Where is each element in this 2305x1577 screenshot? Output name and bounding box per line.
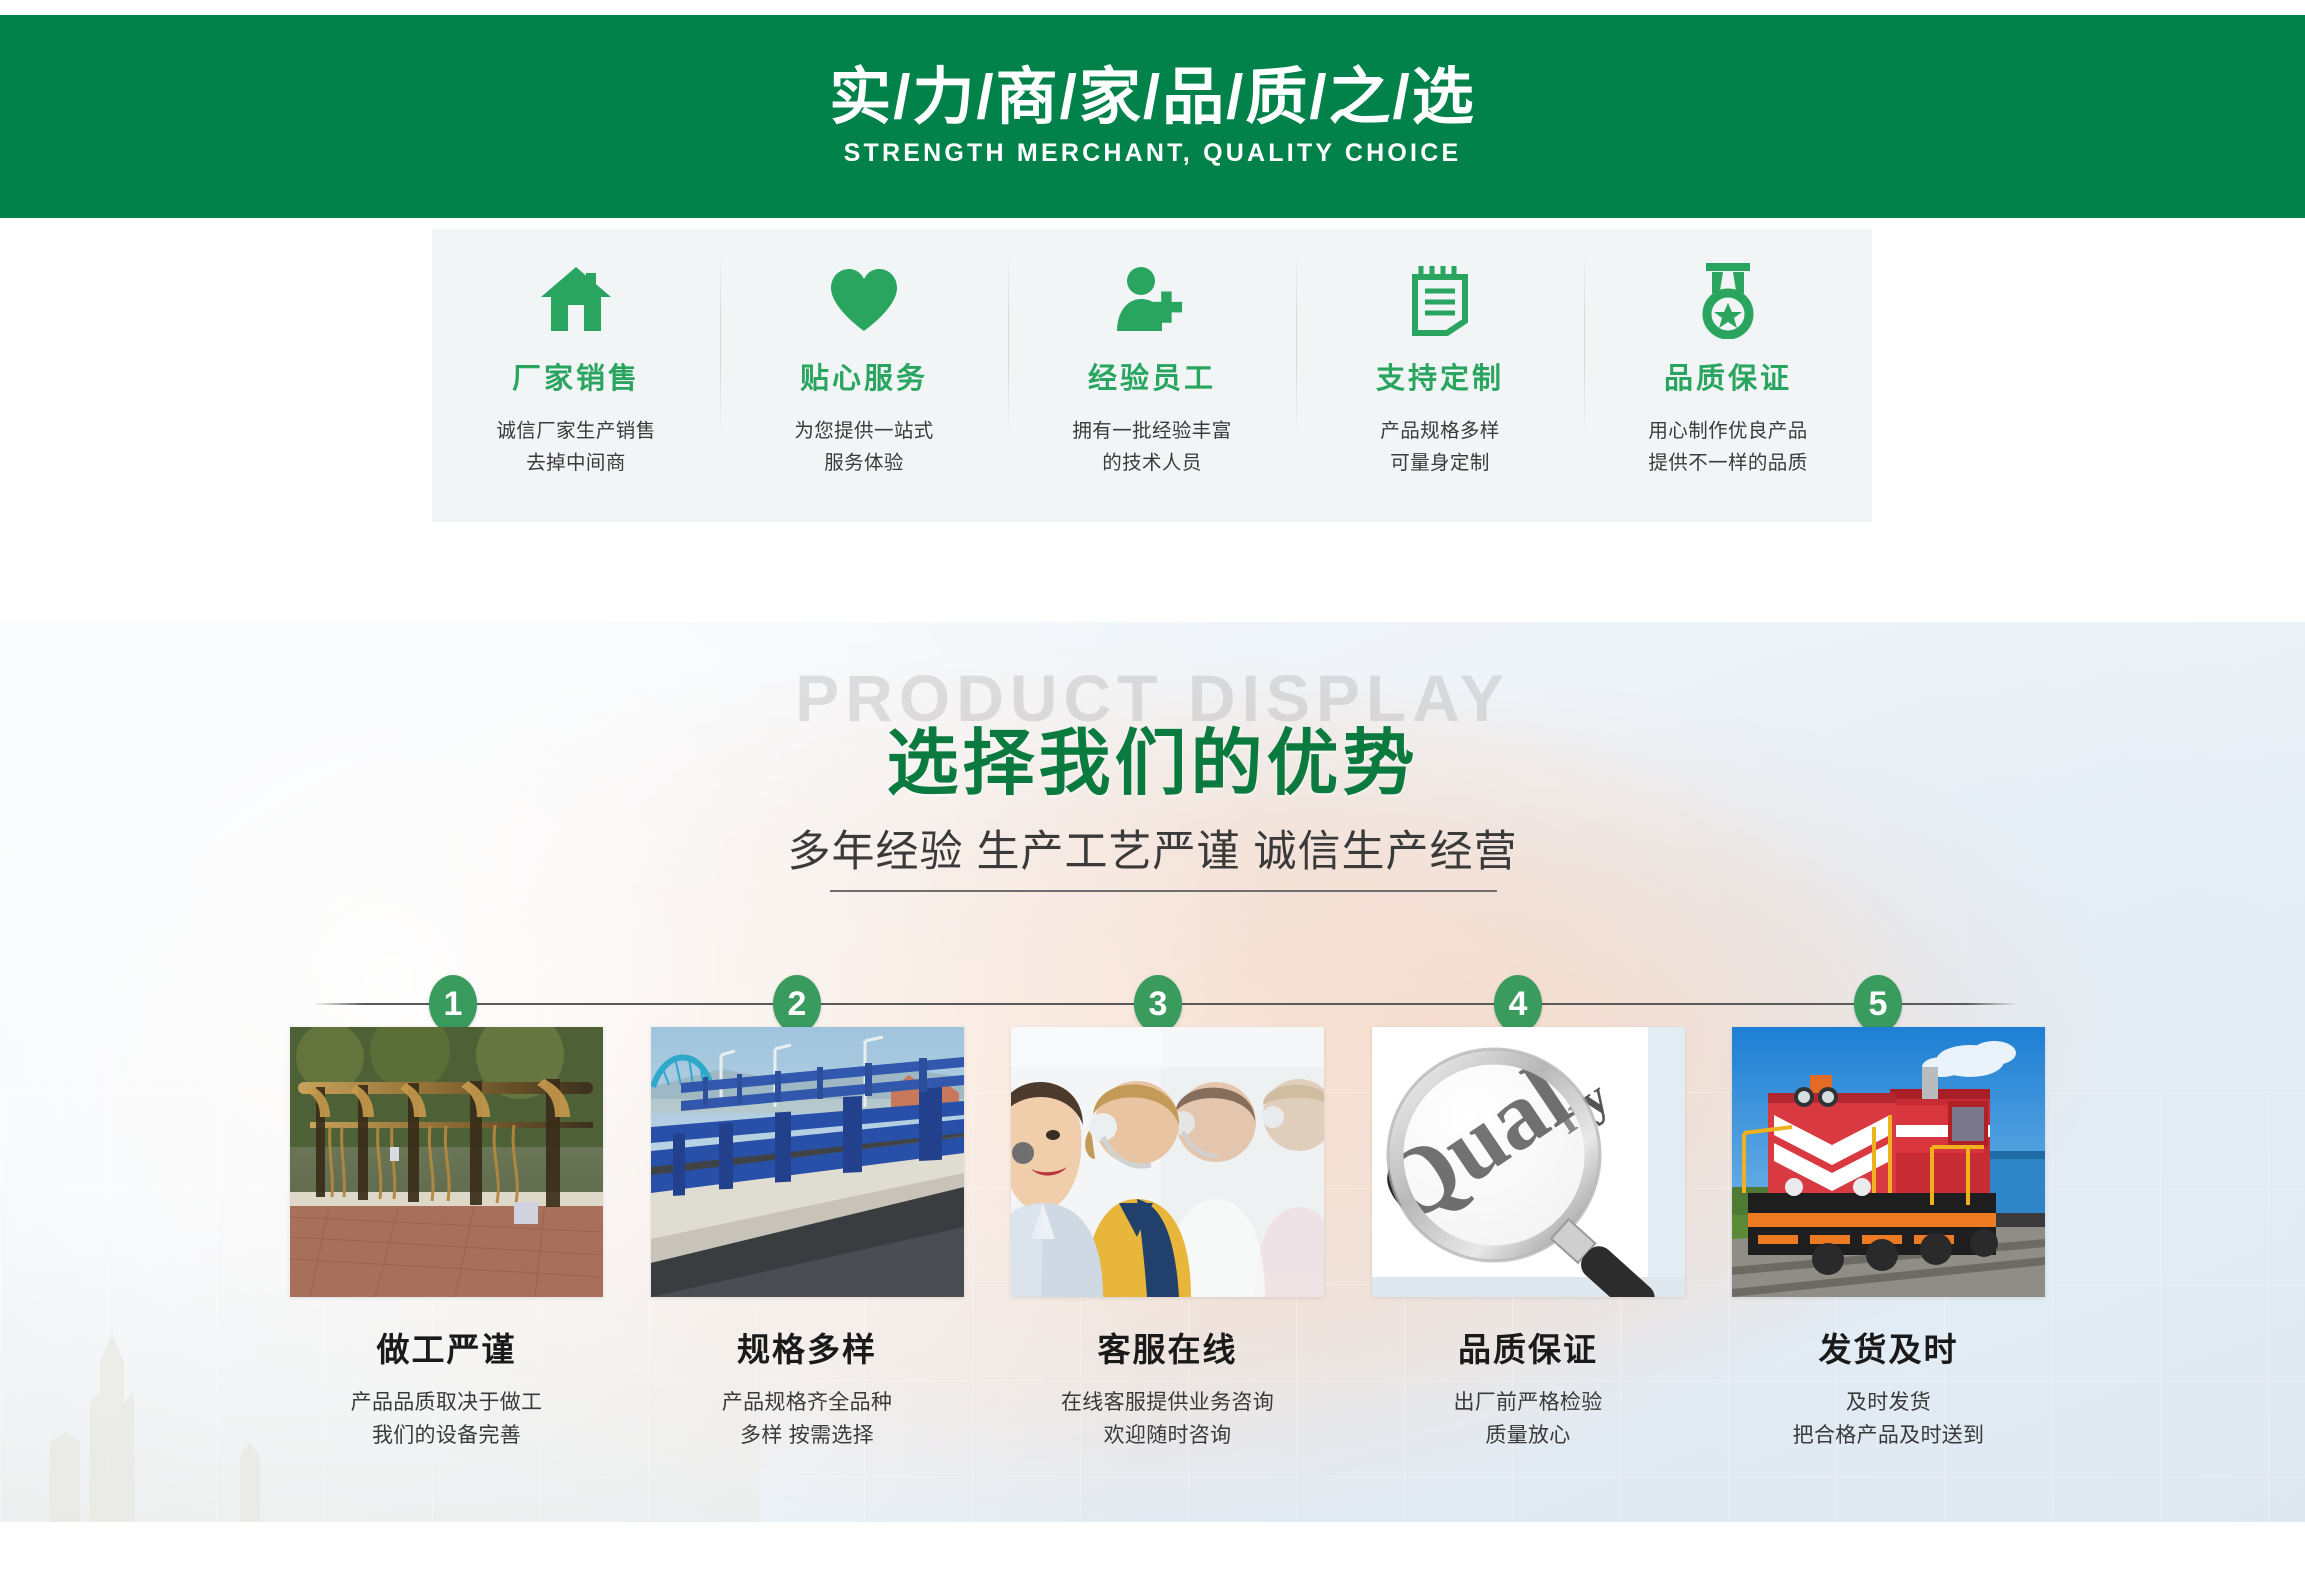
call-center-agents-photo — [1011, 1027, 1324, 1297]
bronze-decorative-railing-photo — [290, 1027, 603, 1297]
feature-band: 厂家销售 诚信厂家生产销售 去掉中间商 贴心服务 为您提供一站式 服务体验 — [0, 218, 2305, 565]
card-desc-line1: 在线客服提供业务咨询 — [1061, 1387, 1274, 1420]
feature-item-factory-sales[interactable]: 厂家销售 诚信厂家生产销售 去掉中间商 — [432, 229, 720, 479]
banner-subtitle: STRENGTH MERCHANT, QUALITY CHOICE — [844, 139, 1462, 168]
feature-title: 品质保证 — [1664, 355, 1792, 397]
heart-icon — [827, 261, 901, 339]
banner-title: 实/力/商/家/品/质/之/选 — [829, 65, 1476, 130]
card-title: 规格多样 — [737, 1323, 877, 1371]
card-title: 品质保证 — [1458, 1323, 1598, 1371]
step-badge-2[interactable]: 2 — [773, 975, 821, 1033]
feature-item-experienced-staff[interactable]: 经验员工 拥有一批经验丰富 的技术人员 — [1008, 229, 1296, 479]
feature-desc: 为您提供一站式 服务体验 — [794, 416, 933, 479]
advantage-divider — [830, 890, 1497, 892]
card-desc-line1: 及时发货 — [1793, 1387, 1985, 1420]
step-badge-1[interactable]: 1 — [429, 975, 477, 1033]
advantage-card-4[interactable]: ity Qual 品质保证 — [1371, 1027, 1686, 1452]
blue-bridge-guardrail-photo — [651, 1027, 964, 1297]
card-desc: 产品品质取决于做工 我们的设备完善 — [351, 1387, 543, 1452]
step-badge-3[interactable]: 3 — [1134, 975, 1182, 1033]
feature-desc: 诚信厂家生产销售 去掉中间商 — [496, 416, 655, 479]
feature-title: 经验员工 — [1088, 355, 1216, 397]
feature-desc: 产品规格多样 可量身定制 — [1380, 416, 1499, 479]
feature-desc-line1: 产品规格多样 — [1380, 416, 1499, 448]
advantage-section: PRODUCT DISPLAY 选择我们的优势 多年经验 生产工艺严谨 诚信生产… — [0, 622, 2305, 1522]
medal-icon — [1695, 261, 1761, 339]
feature-desc-line2: 的技术人员 — [1072, 448, 1231, 480]
top-banner: 实/力/商/家/品/质/之/选 STRENGTH MERCHANT, QUALI… — [0, 15, 2305, 218]
card-desc: 出厂前严格检验 质量放心 — [1453, 1387, 1602, 1452]
feature-desc: 用心制作优良产品 提供不一样的品质 — [1648, 416, 1807, 479]
feature-item-service[interactable]: 贴心服务 为您提供一站式 服务体验 — [720, 229, 1008, 479]
card-desc-line2: 欢迎随时咨询 — [1061, 1420, 1274, 1453]
card-title: 发货及时 — [1819, 1323, 1959, 1371]
feature-title: 支持定制 — [1376, 355, 1504, 397]
bottom-spacer — [0, 1522, 2305, 1577]
card-desc-line2: 质量放心 — [1453, 1420, 1602, 1453]
steps-timeline: 1 2 3 4 5 — [313, 975, 2018, 1033]
magnifier-quality-photo: ity Qual — [1372, 1027, 1685, 1297]
advantage-cards: 做工严谨 产品品质取决于做工 我们的设备完善 — [289, 1027, 2046, 1452]
feature-desc-line2: 可量身定制 — [1380, 448, 1499, 480]
advantage-title: 选择我们的优势 — [0, 704, 2305, 809]
feature-desc-line1: 用心制作优良产品 — [1648, 416, 1807, 448]
feature-item-quality-guarantee[interactable]: 品质保证 用心制作优良产品 提供不一样的品质 — [1584, 229, 1872, 479]
card-desc: 及时发货 把合格产品及时送到 — [1793, 1387, 1985, 1452]
card-desc-line2: 我们的设备完善 — [351, 1420, 543, 1453]
card-desc-line1: 产品规格齐全品种 — [722, 1387, 892, 1420]
feature-item-customization[interactable]: 支持定制 产品规格多样 可量身定制 — [1296, 229, 1584, 479]
card-desc-line1: 产品品质取决于做工 — [351, 1387, 543, 1420]
step-badge-5[interactable]: 5 — [1854, 975, 1902, 1033]
feature-desc-line1: 拥有一批经验丰富 — [1072, 416, 1231, 448]
card-desc: 在线客服提供业务咨询 欢迎随时咨询 — [1061, 1387, 1274, 1452]
card-desc-line1: 出厂前严格检验 — [1453, 1387, 1602, 1420]
card-title: 做工严谨 — [377, 1323, 517, 1371]
feature-desc-line1: 为您提供一站式 — [794, 416, 933, 448]
advantage-subtitle: 多年经验 生产工艺严谨 诚信生产经营 — [0, 817, 2305, 879]
feature-desc: 拥有一批经验丰富 的技术人员 — [1072, 416, 1231, 479]
advantage-card-3[interactable]: 客服在线 在线客服提供业务咨询 欢迎随时咨询 — [1010, 1027, 1325, 1452]
feature-desc-line2: 去掉中间商 — [496, 448, 655, 480]
feature-desc-line2: 服务体验 — [794, 448, 933, 480]
feature-title: 厂家销售 — [512, 355, 640, 397]
card-desc-line2: 把合格产品及时送到 — [1793, 1420, 1985, 1453]
feature-title: 贴心服务 — [800, 355, 928, 397]
card-desc-line2: 多样 按需选择 — [722, 1420, 892, 1453]
user-plus-icon — [1114, 261, 1190, 339]
notepad-icon — [1409, 261, 1471, 339]
advantage-card-1[interactable]: 做工严谨 产品品质取决于做工 我们的设备完善 — [289, 1027, 604, 1452]
advantage-card-2[interactable]: 规格多样 产品规格齐全品种 多样 按需选择 — [650, 1027, 965, 1452]
card-desc: 产品规格齐全品种 多样 按需选择 — [722, 1387, 892, 1452]
feature-desc-line2: 提供不一样的品质 — [1648, 448, 1807, 480]
feature-desc-line1: 诚信厂家生产销售 — [496, 416, 655, 448]
red-freight-locomotive-photo — [1732, 1027, 2045, 1297]
house-icon — [539, 261, 613, 339]
advantage-card-5[interactable]: 发货及时 及时发货 把合格产品及时送到 — [1731, 1027, 2046, 1452]
card-title: 客服在线 — [1098, 1323, 1238, 1371]
feature-panel: 厂家销售 诚信厂家生产销售 去掉中间商 贴心服务 为您提供一站式 服务体验 — [432, 229, 1872, 522]
step-badge-4[interactable]: 4 — [1494, 975, 1542, 1033]
